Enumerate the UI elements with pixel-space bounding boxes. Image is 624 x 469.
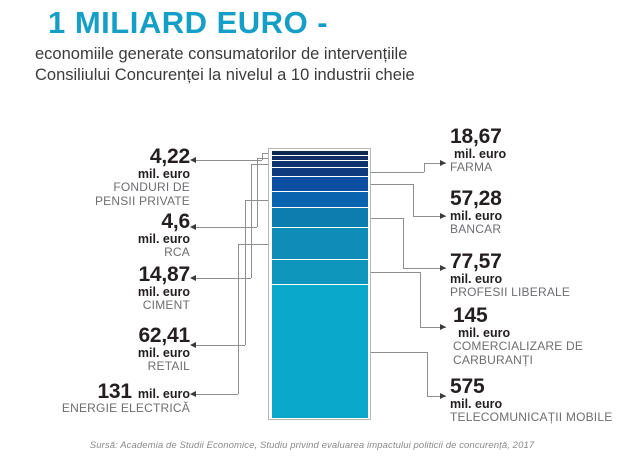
industry-name-line2: PENSII PRIVATE <box>20 195 190 209</box>
connector-arrowhead <box>190 391 196 397</box>
value-unit: mil. euro <box>450 397 624 411</box>
connector-segment <box>371 172 424 173</box>
value-number: 57,28 <box>450 188 622 209</box>
industry-name-line1: PROFESII LIBERALE <box>450 286 622 300</box>
industry-name-line1: FARMA <box>450 161 622 175</box>
label-comercializare-de-carburanti: 145 mil. euro COMERCIALIZARE DE CARBURAN… <box>453 305 624 368</box>
industry-name-line1: CIMENT <box>20 299 190 313</box>
industry-name-line1: RCA <box>20 246 190 260</box>
connector-segment <box>420 272 421 327</box>
stacked-bar-chart <box>272 151 368 418</box>
bar-segment-energie-electric <box>272 228 368 259</box>
connector-segment <box>251 164 252 278</box>
connector-segment <box>403 218 404 269</box>
infographic-canvas: 1 MILIARD EURO - economiile generate con… <box>0 0 624 469</box>
label-energie-electrica: 131 mil. euro ENERGIE ELECTRICĂ <box>14 381 190 416</box>
value-number: 575 <box>450 376 624 397</box>
value-number: 145 <box>453 305 624 326</box>
page-subtitle: economiile generate consumatorilor de in… <box>35 44 475 86</box>
connector-segment <box>371 218 403 219</box>
connector-segment <box>257 158 258 227</box>
connector-segment <box>245 200 268 201</box>
connector-segment <box>371 184 413 185</box>
value-number: 14,87 <box>20 264 190 285</box>
connector-segment <box>413 184 414 216</box>
connector-arrowhead <box>190 275 196 281</box>
industry-name-line2: CARBURANȚI <box>453 354 624 368</box>
label-profesii-liberale: 77,57 mil. euro PROFESII LIBERALE <box>450 251 622 300</box>
label-fonduri-de-pensii-private: 4,22 mil. euro FONDURI DE PENSII PRIVATE <box>20 146 190 209</box>
value-unit: mil. euro <box>453 326 624 340</box>
connector-segment <box>245 200 246 346</box>
value-number: 131 <box>97 381 131 402</box>
label-ciment: 14,87 mil. euro CIMENT <box>20 264 190 313</box>
value-unit: mil. euro <box>20 232 190 246</box>
value-number: 4,6 <box>20 211 190 232</box>
industry-name-line1: TELECOMUNICAȚII MOBILE <box>450 411 624 425</box>
connector-segment <box>196 160 262 161</box>
connector-segment <box>238 244 239 395</box>
value-number: 77,57 <box>450 251 622 272</box>
connector-segment <box>196 394 238 395</box>
source-attribution: Sursă: Academia de Studii Economice, Stu… <box>0 440 624 451</box>
value-unit: mil. euro <box>20 167 190 181</box>
value-number: 4,22 <box>20 146 190 167</box>
bar-segment-fonduri-de-pensii-private <box>272 151 368 155</box>
bar-segment-farma <box>272 168 368 176</box>
connector-segment <box>371 352 427 353</box>
bar-segment-ciment <box>272 161 368 167</box>
connector-segment <box>424 163 425 172</box>
value-unit: mil. euro <box>450 147 622 161</box>
bar-segment-profesii-liberale <box>272 208 368 227</box>
connector-segment <box>371 272 420 273</box>
connector-arrowhead <box>440 324 446 330</box>
label-telecomunicatii-mobile: 575 mil. euro TELECOMUNICAȚII MOBILE <box>450 376 624 425</box>
connector-arrowhead <box>190 157 196 163</box>
value-unit: mil. euro <box>138 387 190 401</box>
industry-name-line1: BANCAR <box>450 223 622 237</box>
connector-arrowhead <box>190 342 196 348</box>
connector-segment <box>238 244 268 245</box>
value-unit: mil. euro <box>450 209 622 223</box>
label-bancar: 57,28 mil. euro BANCAR <box>450 188 622 237</box>
value-unit: mil. euro <box>20 285 190 299</box>
connector-segment <box>427 352 428 397</box>
value-unit: mil. euro <box>450 272 622 286</box>
label-rca: 4,6 mil. euro RCA <box>20 211 190 260</box>
industry-name-line1: FONDURI DE <box>20 181 190 195</box>
page-title: 1 MILIARD EURO - <box>48 7 328 38</box>
bar-segment-rca <box>272 156 368 160</box>
connector-arrowhead <box>440 265 446 271</box>
label-farma: 18,67 mil. euro FARMA <box>450 126 622 175</box>
connector-segment <box>196 227 257 228</box>
connector-arrowhead <box>190 224 196 230</box>
value-number: 62,41 <box>20 325 190 346</box>
industry-name-line1: COMERCIALIZARE DE <box>453 340 624 354</box>
bar-segment-bancar <box>272 177 368 191</box>
bar-segment-telecomunica-ii-mobile <box>272 285 368 418</box>
industry-name-line1: RETAIL <box>20 360 190 374</box>
value-number: 18,67 <box>450 126 622 147</box>
value-unit: mil. euro <box>20 346 190 360</box>
connector-segment <box>257 158 268 159</box>
bar-segment-comercializare-de-carburan-i <box>272 260 368 284</box>
connector-arrowhead <box>440 160 446 166</box>
connector-arrowhead <box>440 213 446 219</box>
connector-segment <box>251 164 268 165</box>
label-retail: 62,41 mil. euro RETAIL <box>20 325 190 374</box>
industry-name-line1: ENERGIE ELECTRICĂ <box>14 402 190 416</box>
connector-segment <box>196 278 251 279</box>
connector-arrowhead <box>440 393 446 399</box>
bar-segment-retail <box>272 192 368 207</box>
